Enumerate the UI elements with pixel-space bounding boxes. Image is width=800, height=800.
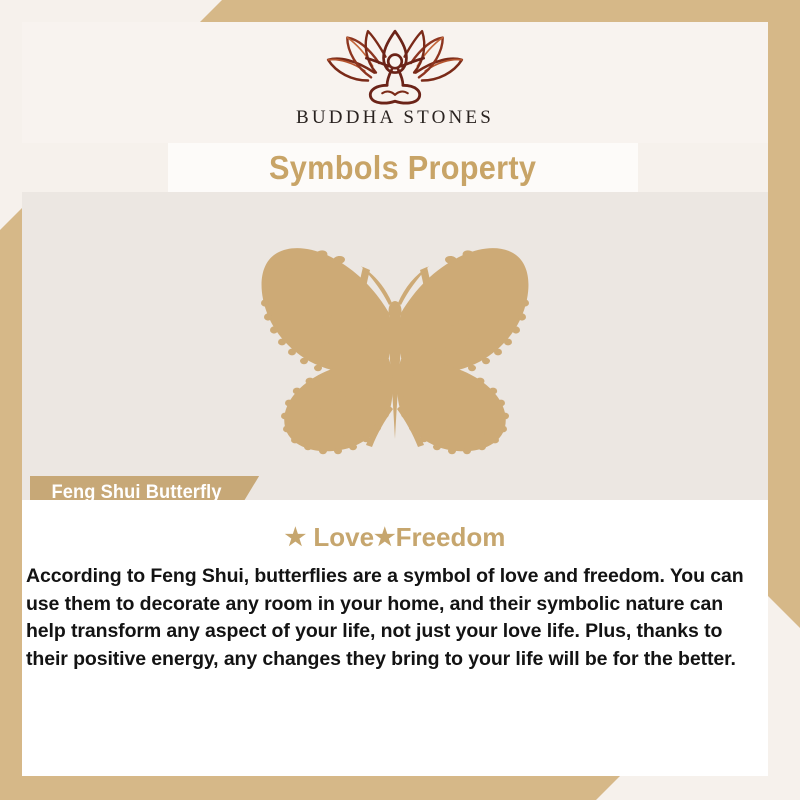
star-icon-mid: ★: [374, 524, 396, 551]
hero-panel: [22, 192, 768, 500]
brand-name: BUDDHA STONES: [296, 107, 494, 129]
tagline: ★ Love★Freedom: [22, 522, 768, 553]
description-panel: ★ Love★Freedom According to Feng Shui, b…: [22, 500, 768, 776]
frame-right-accent: [768, 0, 800, 628]
description-text: According to Feng Shui, butterflies are …: [26, 563, 764, 674]
page-title: Symbols Property: [269, 149, 536, 187]
card-inner: BUDDHA STONES Symbols Property: [22, 22, 768, 776]
title-band: Symbols Property: [168, 143, 638, 192]
tagline-word-freedom: Freedom: [396, 522, 506, 552]
lotus-meditation-icon: [315, 28, 475, 106]
frame-bottom-accent: [0, 776, 620, 800]
promo-card: BUDDHA STONES Symbols Property: [0, 0, 800, 800]
butterfly-icon: [215, 233, 575, 463]
star-icon-left: ★: [285, 524, 307, 551]
frame-top-accent: [200, 0, 800, 22]
brand-header: BUDDHA STONES: [22, 22, 768, 143]
tagline-word-love: Love: [313, 522, 374, 552]
